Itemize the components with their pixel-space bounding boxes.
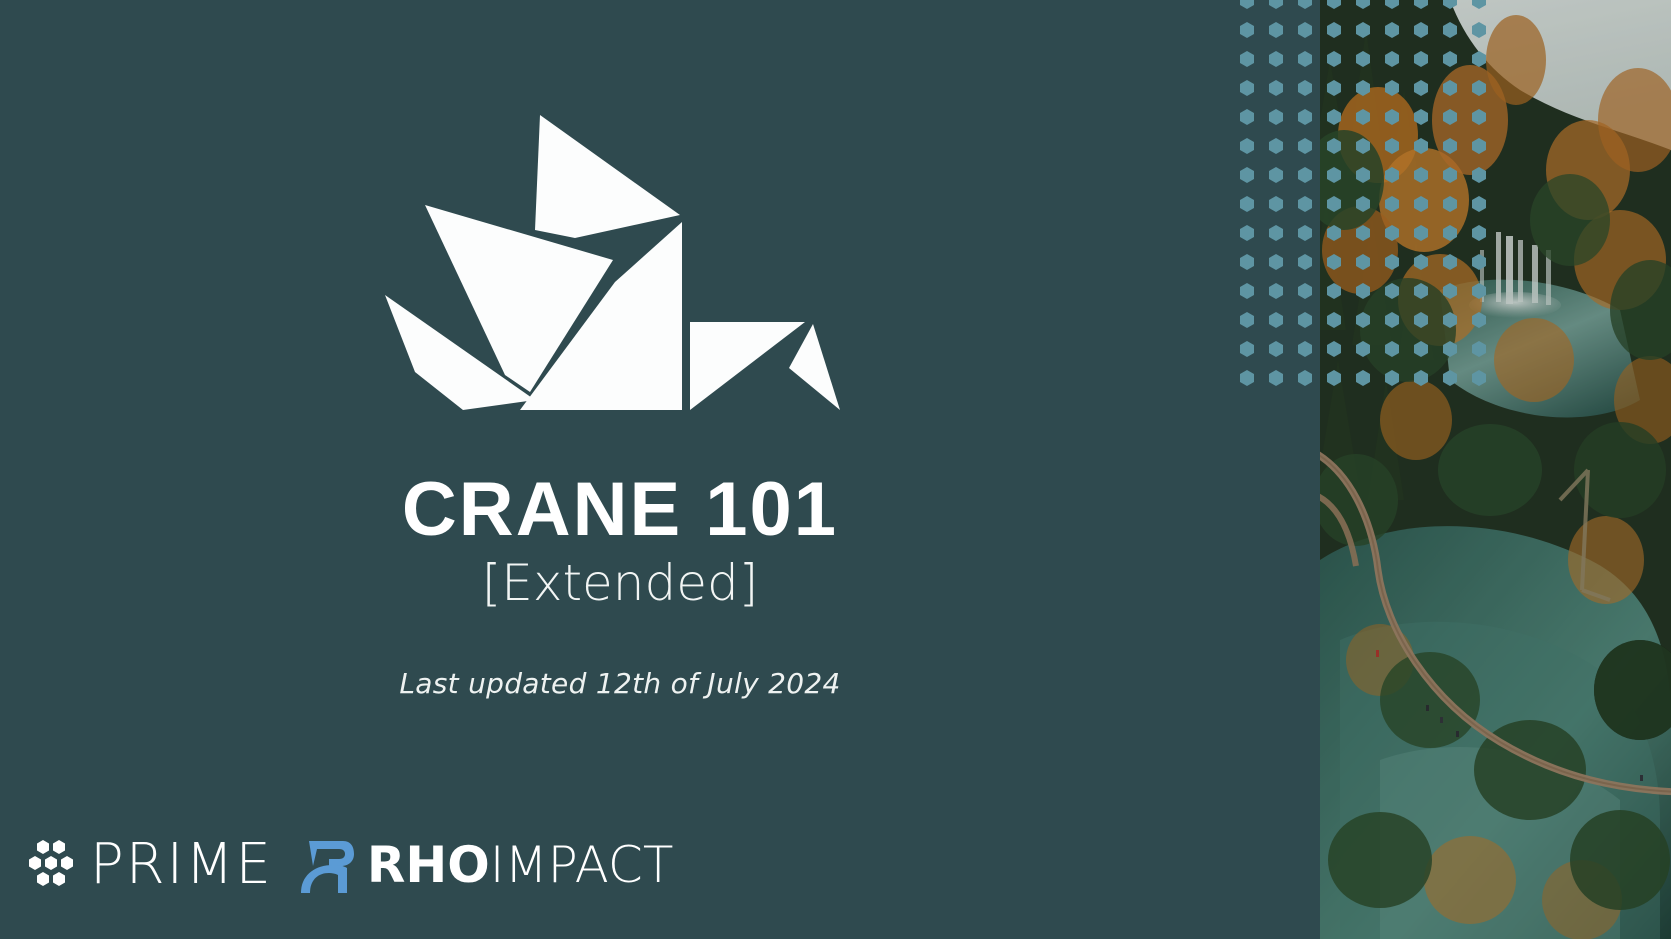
last-updated-note: Last updated 12th of July 2024	[0, 667, 1240, 700]
title-block: CRANE 101 [Extended] Last updated 12th o…	[0, 110, 1240, 700]
page-subtitle: [Extended]	[0, 556, 1240, 611]
prime-wordmark: PRIME	[90, 837, 273, 893]
origami-crane-icon	[385, 110, 855, 440]
rho-bold-text: RHO	[367, 836, 490, 894]
rho-r-mark-icon	[299, 835, 355, 895]
prime-hexagon-cluster-icon	[26, 839, 76, 891]
prime-logo: PRIME	[26, 837, 273, 893]
impact-light-text: IMPACT	[490, 836, 674, 894]
slide-canvas: CRANE 101 [Extended] Last updated 12th o…	[0, 0, 1671, 939]
page-title: CRANE 101	[0, 470, 1240, 550]
photo-panel	[1240, 0, 1671, 939]
autumn-forest-waterfall-photo	[1320, 0, 1671, 939]
rhoimpact-wordmark: RHOIMPACT	[367, 840, 673, 890]
rhoimpact-logo: RHOIMPACT	[299, 835, 673, 895]
left-content-panel: CRANE 101 [Extended] Last updated 12th o…	[0, 0, 1240, 939]
footer-logos: PRIME RHOIMPACT	[26, 835, 673, 895]
